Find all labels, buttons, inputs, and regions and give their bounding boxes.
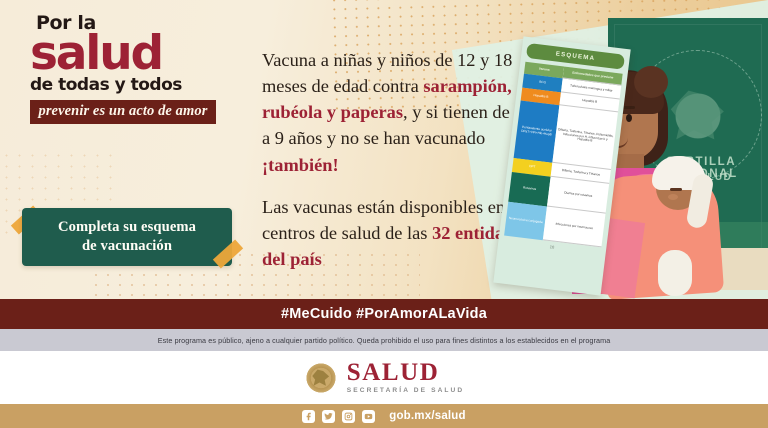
cta-text: Completa su esquemade vacunación xyxy=(58,218,196,257)
brand-word-salud: salud xyxy=(30,34,220,74)
salud-logo-subtitle: SECRETARÍA DE SALUD xyxy=(347,388,465,395)
gob-mx-url[interactable]: gob.mx/salud xyxy=(389,410,466,422)
mother-eyebrow-right xyxy=(623,106,635,109)
salud-logo-wordmark: SALUD xyxy=(347,360,465,385)
mother-hair-bun xyxy=(634,66,668,98)
schedule-vaccine-cell: Rotavirus xyxy=(508,172,551,207)
mexican-eagle-emblem-icon-logo xyxy=(304,361,338,395)
cta-banner: Completa su esquemade vacunación xyxy=(22,208,232,266)
schedule-prevents-cell: Infecciones por neumococo xyxy=(543,206,606,247)
schedule-vaccine-cell: Neumocócica conjugada xyxy=(504,202,547,241)
schedule-card-header-text: ESQUEMA xyxy=(555,50,595,62)
brand-tagline-text: prevenir es un acto de amor xyxy=(38,103,207,120)
baby-eye xyxy=(670,188,682,191)
cta-line-1: Completa su esquema xyxy=(58,219,196,235)
msg-p1-bold2: ¡también! xyxy=(262,155,339,175)
main-message: Vacuna a niñas y niños de 12 y 18 meses … xyxy=(262,47,534,272)
vaccination-campaign-poster: Por la salud de todas y todos prevenir e… xyxy=(0,0,768,428)
youtube-icon[interactable] xyxy=(362,410,375,423)
instagram-icon[interactable] xyxy=(342,410,355,423)
baby-cheek xyxy=(668,194,678,200)
hashtag-band: #MeCuido #PorAmorALaVida xyxy=(0,299,768,329)
cta-banner-wrapper: Completa su esquemade vacunación xyxy=(22,208,232,266)
salud-logo-bar: SALUD SECRETARÍA DE SALUD xyxy=(0,351,768,404)
campaign-brand-lockup: Por la salud de todas y todos prevenir e… xyxy=(30,14,220,124)
legal-disclaimer-text: Este programa es público, ajeno a cualqu… xyxy=(158,336,611,345)
hashtag-text: #MeCuido #PorAmorALaVida xyxy=(281,306,487,322)
social-footer-bar: gob.mx/salud xyxy=(0,404,768,428)
facebook-icon[interactable] xyxy=(302,410,315,423)
cta-line-2: de vacunación xyxy=(82,238,172,254)
message-paragraph-2: Las vacunas están disponibles en los cen… xyxy=(262,194,534,272)
message-paragraph-1: Vacuna a niñas y niños de 12 y 18 meses … xyxy=(262,47,534,178)
brand-line-de-todas-y-todos: de todas y todos xyxy=(30,77,220,94)
legal-disclaimer-bar: Este programa es público, ajeno a cualqu… xyxy=(0,329,768,351)
brand-tagline-bar: prevenir es un acto de amor xyxy=(30,100,216,124)
schedule-prevents-cell: Difteria, Tosferina, Tétanos, Poliomieli… xyxy=(553,105,618,170)
twitter-icon[interactable] xyxy=(322,410,335,423)
salud-logo-text: SALUD SECRETARÍA DE SALUD xyxy=(347,360,465,395)
baby-blanket-arm xyxy=(658,250,692,296)
mother-eye-right xyxy=(626,114,632,122)
schedule-table: Vacuna BCGHepatitis BPentavalente acelul… xyxy=(504,62,623,248)
